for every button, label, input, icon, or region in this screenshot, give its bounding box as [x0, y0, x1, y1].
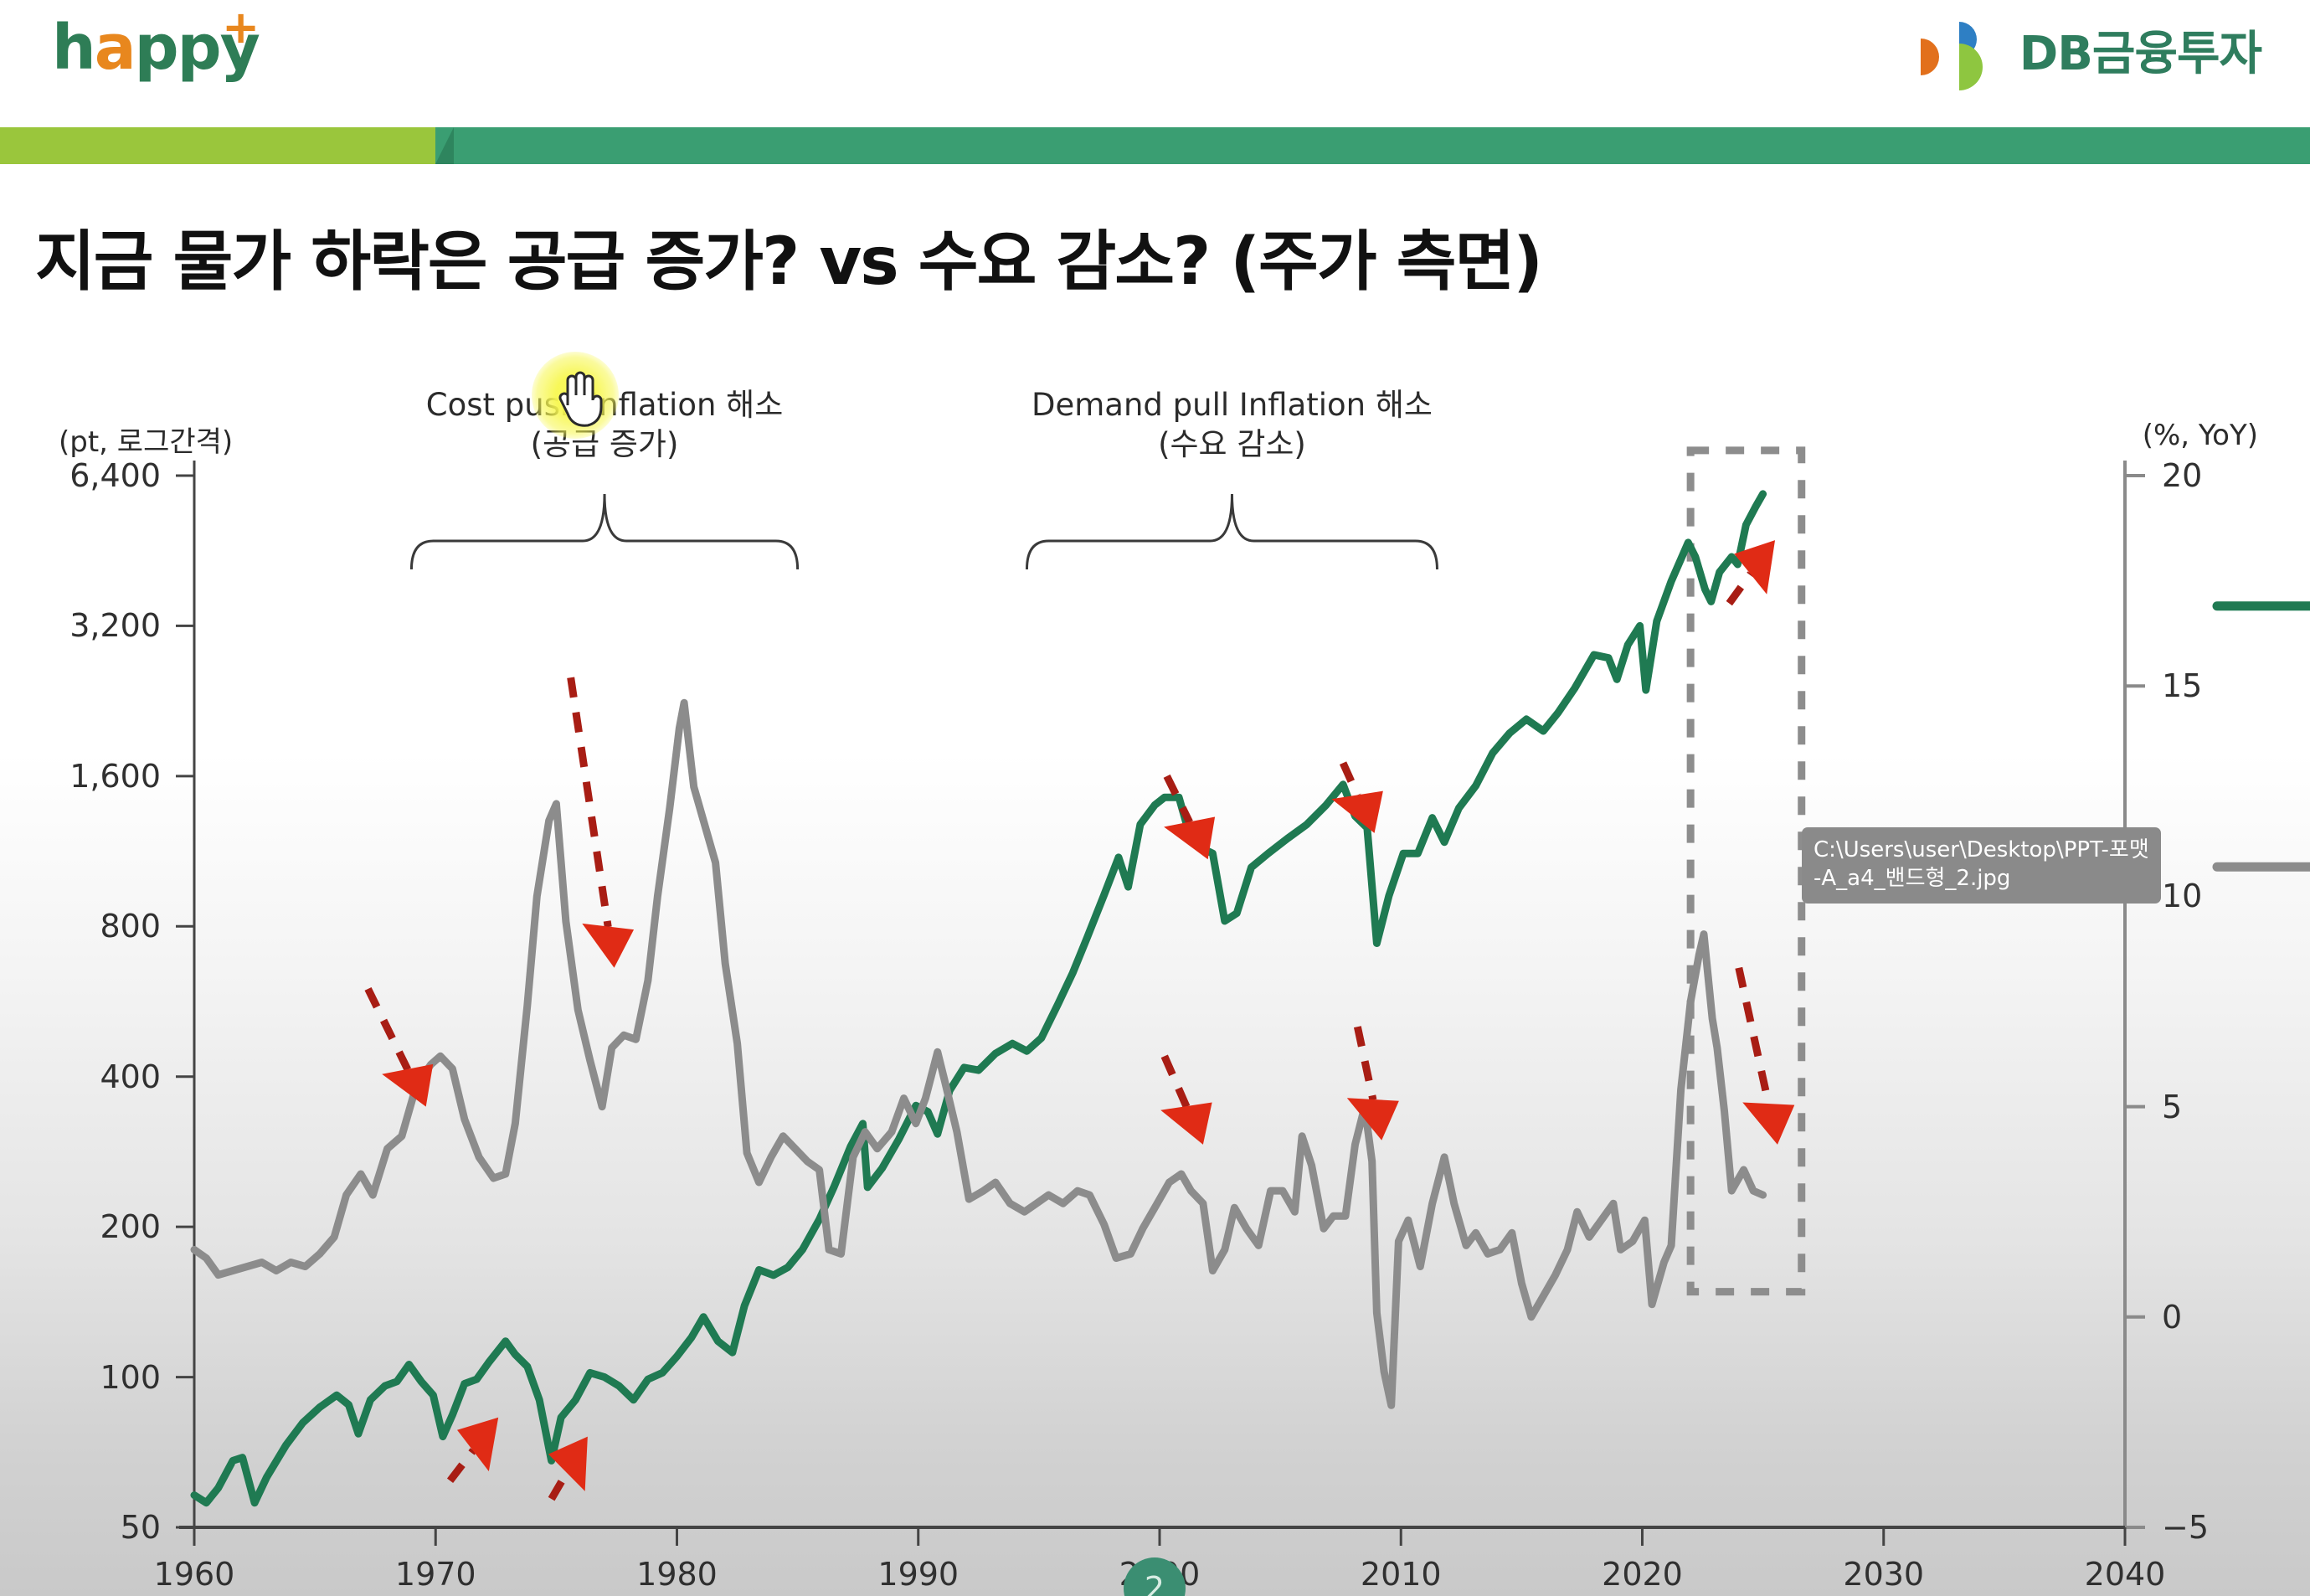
- page-title: 지금 물가 하락은 공급 증가? vs 수요 감소? (주가 측면): [35, 209, 1541, 303]
- right-axis-tick-label: 5: [2162, 1089, 2182, 1125]
- left-axis-tick-label: 3,200: [69, 607, 161, 644]
- x-axis-tick-label: 2040: [2085, 1556, 2166, 1593]
- x-axis-tick-label: 1990: [877, 1556, 959, 1593]
- right-axis-tick-label: −5: [2162, 1509, 2209, 1546]
- file-path-tooltip: C:\Users\user\Desktop\PPT-포맷 -A_a4_밴드형_2…: [1802, 827, 2161, 904]
- left-axis-tick-label: 400: [100, 1058, 161, 1095]
- slide-header: happy + DB금융투자: [0, 0, 2310, 124]
- arrow-shaft-sp500-up-2024: [1729, 574, 1751, 603]
- arrow-shaft-cpi-down-2001: [1165, 1056, 1186, 1106]
- x-axis-tick-label: 1960: [154, 1556, 235, 1593]
- arrow-head-cpi-down-1972: [382, 1064, 433, 1107]
- annotation-line-2: (수요 감소): [1032, 425, 1433, 464]
- right-axis-tick-label: 15: [2162, 667, 2202, 704]
- right-axis-tick-label: 0: [2162, 1299, 2182, 1336]
- chart-container: (pt, 로그간격) (%, YoY) 501002004008001,6003…: [0, 394, 2310, 1583]
- left-axis-tick-label: 1,600: [69, 758, 161, 795]
- arrow-head-cpi-down-2001: [1160, 1103, 1212, 1145]
- x-axis-tick-label: 1980: [636, 1556, 718, 1593]
- arrow-head-sp500-down-2001: [1164, 816, 1215, 859]
- series-line-cpi: [194, 703, 1763, 1405]
- annotation-line-1: Cost push Inflation 해소: [426, 385, 784, 425]
- highlight-region-box: [1690, 450, 1802, 1292]
- happy-logo-a: a: [95, 12, 135, 84]
- chart-plot: [0, 394, 2310, 1583]
- brace-cost-push: [411, 494, 797, 569]
- slide-root: happy + DB금융투자 지금 물가 하락은 공급 증가? vs 수요 감소…: [0, 0, 2310, 1596]
- right-axis-tick-label: 10: [2162, 878, 2202, 914]
- x-axis-tick-label: 2020: [1602, 1556, 1683, 1593]
- happy-logo-h: h: [52, 12, 95, 84]
- x-axis-tick-label: 1970: [395, 1556, 476, 1593]
- arrow-head-sp500-down-2008: [1331, 791, 1382, 833]
- arrow-shaft-sp500-up-1976: [552, 1472, 567, 1499]
- left-axis-tick-label: 6,400: [69, 457, 161, 494]
- annotation-cost-push: Cost push Inflation 해소(공급 증가): [426, 385, 784, 465]
- left-axis-tick-label: 50: [121, 1509, 161, 1546]
- header-color-band: [0, 127, 2310, 164]
- arrow-head-sp500-up-1972: [457, 1418, 498, 1471]
- arrow-shaft-cpi-down-1972: [368, 989, 408, 1069]
- band-left-segment: [0, 127, 444, 164]
- db-logo: DB금융투자: [1916, 18, 2261, 90]
- annotation-line-1: Demand pull Inflation 해소: [1032, 385, 1433, 425]
- series-line-sp500: [194, 494, 1763, 1503]
- arrow-head-cpi-down-2024: [1742, 1103, 1794, 1145]
- left-axis-tick-label: 800: [100, 908, 161, 945]
- arrow-shaft-sp500-up-1972: [450, 1450, 474, 1480]
- x-axis-tick-label: 2010: [1361, 1556, 1442, 1593]
- arrow-head-cpi-down-1976: [582, 924, 634, 968]
- arrow-shaft-cpi-down-2008: [1357, 1027, 1373, 1099]
- arrow-shaft-cpi-down-1976: [571, 677, 609, 927]
- brace-demand-pull: [1026, 494, 1437, 569]
- left-axis-tick-label: 100: [100, 1359, 161, 1396]
- db-mark-icon: [1916, 18, 2008, 90]
- arrow-shaft-cpi-down-2024: [1739, 968, 1769, 1104]
- annotation-demand-pull: Demand pull Inflation 해소(수요 감소): [1032, 385, 1433, 465]
- happy-logo-plus-icon: +: [222, 5, 260, 50]
- right-axis-tick-label: 20: [2162, 457, 2202, 494]
- db-logo-text: DB금융투자: [2019, 31, 2261, 78]
- band-right-segment: [435, 127, 2310, 164]
- x-axis-tick-label: 2030: [1843, 1556, 1924, 1593]
- hand-cursor-icon: [553, 368, 603, 427]
- left-axis-tick-label: 200: [100, 1208, 161, 1245]
- annotation-line-2: (공급 증가): [426, 425, 784, 464]
